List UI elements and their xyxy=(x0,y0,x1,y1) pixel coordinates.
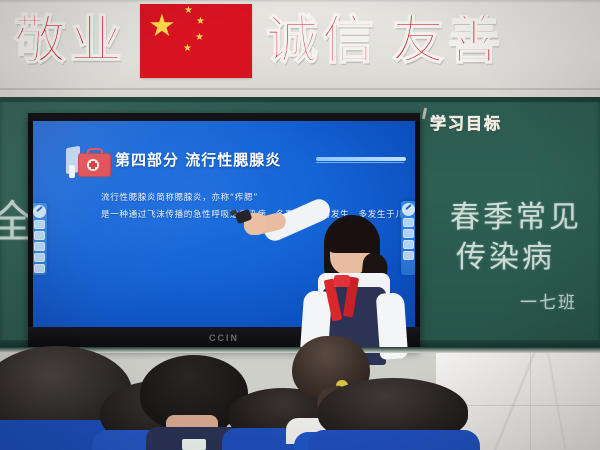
kit-cross-horizontal xyxy=(89,163,97,167)
eraser-tool-icon[interactable] xyxy=(34,242,45,251)
slogan-word-jingye: 敬业 xyxy=(14,15,126,67)
student-name-badge xyxy=(182,439,206,450)
chalk-subtitle-class: 一七班 xyxy=(520,288,577,313)
wall-tile-seam-vertical xyxy=(530,347,531,450)
upper-wall: 敬业 ★ ★ ★ ★ ★ 诚信 友善 xyxy=(0,0,600,97)
presenter-hair-front xyxy=(325,219,379,253)
select-tool-icon[interactable] xyxy=(34,220,45,229)
chalk-title-line2: 传染病 xyxy=(456,238,582,278)
learning-objectives-sign: 学习目标 xyxy=(430,110,502,134)
display-brand-logo: CCIN xyxy=(209,333,239,343)
undo-tool-icon[interactable] xyxy=(34,253,45,262)
red-scarf-knot xyxy=(334,275,350,287)
flag-star-large: ★ xyxy=(148,10,176,41)
classroom-scene: 敬业 ★ ★ ★ ★ ★ 诚信 友善 全 学习目标 春季常见 传染病 一七班 xyxy=(0,0,600,450)
slide-body-line-1: 流行性腮腺炎简称腮腺炎，亦称“痄腮” xyxy=(101,191,258,203)
slogan-banner: 敬业 ★ ★ ★ ★ ★ 诚信 友善 xyxy=(0,2,600,80)
first-aid-kit-icon xyxy=(66,143,110,181)
slogan-word-youshan: 友善 xyxy=(392,15,504,67)
slide-title-rule xyxy=(316,157,406,161)
slide-title-rule-thin xyxy=(316,162,404,163)
student-foreground-6 xyxy=(318,378,468,450)
china-flag-icon: ★ ★ ★ ★ ★ xyxy=(140,4,252,78)
chalk-writing-title: 春季常见 传染病 xyxy=(450,198,582,278)
screen-toolbar-left[interactable] xyxy=(33,203,47,275)
student-uniform xyxy=(308,430,480,450)
pen-icon[interactable] xyxy=(33,205,46,218)
shape-tool-icon[interactable] xyxy=(34,231,45,240)
display-bezel-top xyxy=(28,113,420,121)
slide-title: 第四部分 流行性腮腺炎 xyxy=(115,149,281,170)
kit-tube-shape xyxy=(69,165,75,178)
chalk-title-line1: 春季常见 xyxy=(450,200,582,235)
more-tool-icon[interactable] xyxy=(34,264,45,273)
